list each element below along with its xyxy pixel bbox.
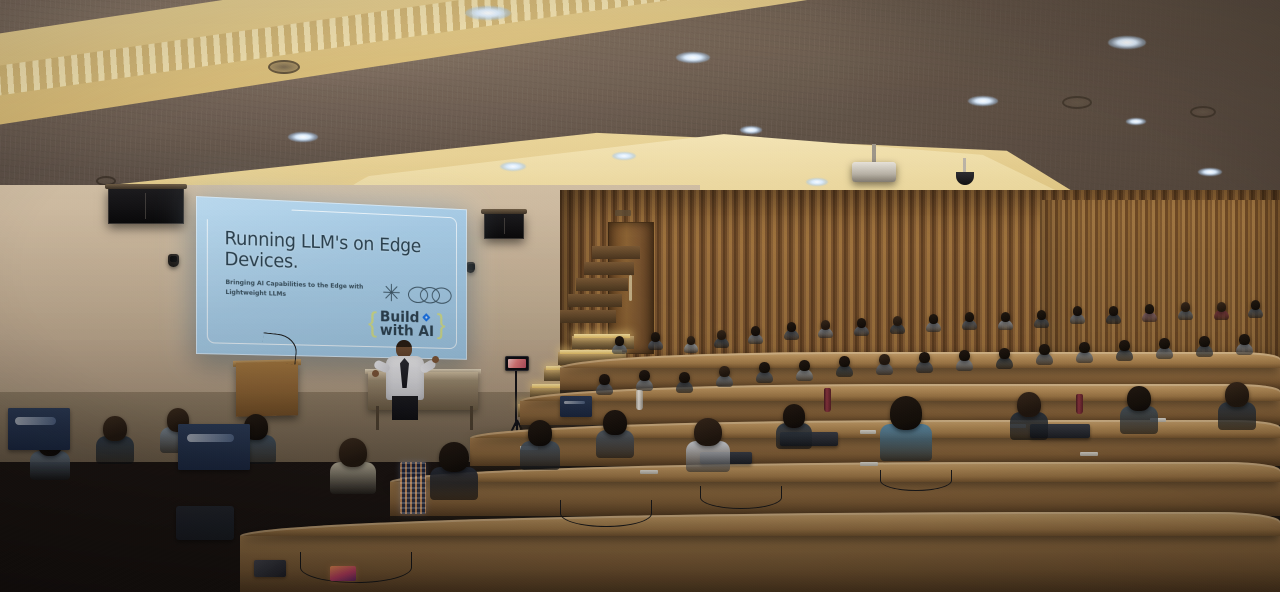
- build-with-ai-text: Build with AI: [377, 309, 437, 338]
- audience-member: [796, 360, 813, 379]
- audience-member: [1010, 392, 1048, 436]
- audience-head: [1017, 392, 1041, 417]
- audience-head: [783, 404, 805, 428]
- audience-head: [1039, 344, 1050, 355]
- audience-head: [1181, 302, 1190, 312]
- ceiling-fixture-ring: [268, 60, 300, 74]
- projection-screen: Running LLM's on Edge Devices. Bringing …: [196, 196, 467, 360]
- ceiling-spotlight: [1126, 118, 1146, 125]
- audience-member: [1248, 300, 1263, 317]
- audience-member: [1070, 306, 1085, 323]
- ceiling-fixture-ring: [1190, 106, 1216, 118]
- audience-member: [684, 336, 698, 352]
- audience-head: [679, 372, 690, 383]
- aisle-stairs-upper: [560, 224, 650, 324]
- audience-member: [1142, 304, 1157, 321]
- audience-member: [748, 326, 763, 343]
- audience-head: [439, 442, 469, 472]
- door-sign-plate: [615, 210, 631, 216]
- build-with-ai-logo: { Build with AI }: [358, 302, 455, 345]
- wall-speaker-right: [484, 213, 524, 239]
- ceiling-spotlight: [740, 126, 762, 134]
- brace-right-glyph: }: [437, 311, 446, 339]
- audience-head: [1109, 306, 1118, 316]
- water-bottle-dark-2: [1076, 394, 1083, 414]
- desk-cable: [700, 486, 782, 509]
- audience-member: [880, 396, 932, 456]
- audience-head: [959, 350, 970, 361]
- slide-logo-group: { Build with AI }: [353, 282, 456, 345]
- desk-name-plate: [640, 470, 658, 474]
- audience-member: [1036, 344, 1053, 363]
- slide-title: Running LLM's on Edge Devices.: [224, 228, 427, 278]
- audience-member: [876, 354, 893, 373]
- audience-head: [1217, 302, 1226, 312]
- audience-member: [1218, 382, 1256, 426]
- audience-member: [836, 356, 853, 375]
- desk-name-plate: [860, 430, 876, 434]
- desk-name-plate: [860, 462, 878, 466]
- audience-member: [716, 366, 733, 385]
- audience-member: [330, 438, 376, 490]
- audience-member: [916, 352, 933, 371]
- audience-head: [103, 416, 127, 441]
- laptop-screen-google[interactable]: [178, 424, 250, 470]
- water-bottle-dark: [824, 388, 831, 412]
- audience-head: [751, 326, 760, 336]
- audience-head: [999, 348, 1010, 359]
- audience-head: [1145, 304, 1154, 314]
- audience-member: [430, 442, 478, 496]
- audience-head: [857, 318, 866, 328]
- seating-tier-front: [390, 482, 1280, 516]
- ceiling-spotlight: [1108, 36, 1146, 49]
- audience-head: [759, 362, 770, 373]
- ceiling-projector-icon: [852, 162, 896, 182]
- audience-member: [1156, 338, 1173, 357]
- audience-member: [1214, 302, 1229, 319]
- audience-member: [776, 404, 812, 446]
- spark-icon: [383, 284, 400, 302]
- desk-cable: [880, 470, 952, 491]
- audience-member: [636, 370, 653, 389]
- audience-member: [1076, 342, 1093, 361]
- audience-member: [756, 362, 773, 381]
- audience-head: [1199, 336, 1210, 347]
- audience-head: [799, 360, 810, 371]
- audience-member: [714, 330, 729, 347]
- presenter-legs: [392, 396, 418, 420]
- audience-member: [1120, 386, 1158, 430]
- audience-member: [962, 312, 977, 329]
- audience-member: [926, 314, 941, 331]
- audience-head: [599, 374, 610, 385]
- ceiling-fixture-ring: [1062, 96, 1092, 109]
- tripod-pole: [515, 368, 517, 426]
- ceiling-spotlight: [676, 52, 710, 63]
- audience-member: [1178, 302, 1193, 319]
- audience-head: [1159, 338, 1170, 349]
- gdg-marks: [383, 284, 450, 304]
- audience-member: [1236, 334, 1253, 353]
- audience-head: [893, 316, 902, 326]
- table-leg: [470, 406, 473, 430]
- audience-head: [1225, 382, 1249, 407]
- audience-head: [717, 330, 726, 340]
- cctv-camera-right: [466, 262, 475, 273]
- wall-speaker-left: [108, 188, 184, 224]
- audience-member: [784, 322, 799, 339]
- ceiling-spotlight: [288, 132, 318, 142]
- audience-head: [1001, 312, 1010, 322]
- audience-head: [603, 410, 627, 435]
- audience-head: [615, 336, 624, 346]
- audience-member: [854, 318, 869, 335]
- audience-member: [956, 350, 973, 369]
- audience-head: [839, 356, 850, 367]
- audience-head: [879, 354, 890, 365]
- ceiling-spotlight: [465, 6, 511, 20]
- audience-head: [719, 366, 730, 377]
- audience-head: [919, 352, 930, 363]
- gemini-gem-icon: [422, 313, 430, 322]
- audience-member: [1196, 336, 1213, 355]
- audience-member: [596, 410, 634, 454]
- presentation-slide: Running LLM's on Edge Devices. Bringing …: [197, 197, 466, 359]
- audience-head: [1239, 334, 1250, 345]
- ceiling-spotlight: [500, 162, 526, 171]
- audience-head: [1079, 342, 1090, 353]
- ceiling-spotlight: [1198, 168, 1222, 176]
- audience-head: [787, 322, 796, 332]
- dome-camera-stem: [963, 158, 966, 173]
- audience-head: [890, 396, 922, 430]
- laptop-screen-left[interactable]: [8, 408, 70, 450]
- phone-on-desk[interactable]: [254, 560, 286, 577]
- audience-member: [818, 320, 833, 337]
- projector-mount-pole: [872, 144, 876, 164]
- audience-member: [648, 332, 663, 349]
- audience-head: [1251, 300, 1260, 310]
- audience-head: [929, 314, 938, 324]
- brace-left-glyph: {: [368, 309, 377, 337]
- ceiling-spotlight: [806, 178, 828, 186]
- audience-head: [651, 332, 660, 342]
- audience-head: [1037, 310, 1046, 320]
- audience-head: [1119, 340, 1130, 351]
- audience-head: [1127, 386, 1151, 411]
- presenter: [378, 340, 434, 406]
- tablet-on-desk[interactable]: [176, 506, 234, 540]
- audience-member: [1116, 340, 1133, 359]
- audience-head: [528, 420, 553, 446]
- audience-member: [686, 418, 730, 468]
- audience-member: [676, 372, 693, 391]
- desk-cable: [560, 500, 652, 527]
- desk-cable: [300, 552, 412, 583]
- audience-head: [639, 370, 650, 381]
- audience-head: [821, 320, 830, 330]
- laptop-screen-mid[interactable]: [560, 396, 592, 417]
- gdg-chain-icon: [408, 286, 450, 302]
- cctv-camera-left: [168, 254, 179, 267]
- ceiling-spotlight: [612, 152, 636, 160]
- audience-member: [96, 416, 134, 460]
- phone-lit-on-desk[interactable]: [330, 566, 356, 581]
- audience-head: [687, 336, 696, 345]
- audience-member: [996, 348, 1013, 367]
- audience-member: [1106, 306, 1121, 323]
- auditorium-photo: Running LLM's on Edge Devices. Bringing …: [0, 0, 1280, 592]
- audience-member: [612, 336, 627, 353]
- water-bottle-clear: [636, 390, 643, 410]
- audience-head: [1073, 306, 1082, 316]
- audience-head: [694, 418, 721, 446]
- table-leg: [376, 406, 379, 430]
- audience-member: [596, 374, 613, 393]
- phone-home-screen[interactable]: [400, 462, 426, 514]
- presenter-hand-left: [372, 370, 379, 377]
- audience-head: [339, 438, 368, 467]
- audience-member: [1034, 310, 1049, 327]
- audience-head: [965, 312, 974, 322]
- desk-name-plate: [1080, 452, 1098, 456]
- podium: [236, 361, 298, 417]
- logo-line-2: with AI: [380, 323, 434, 338]
- presenter-hand-right: [432, 356, 439, 363]
- audience-member: [520, 420, 560, 466]
- ceiling-spotlight: [968, 96, 998, 106]
- audience-member: [998, 312, 1013, 329]
- audience-member: [890, 316, 905, 333]
